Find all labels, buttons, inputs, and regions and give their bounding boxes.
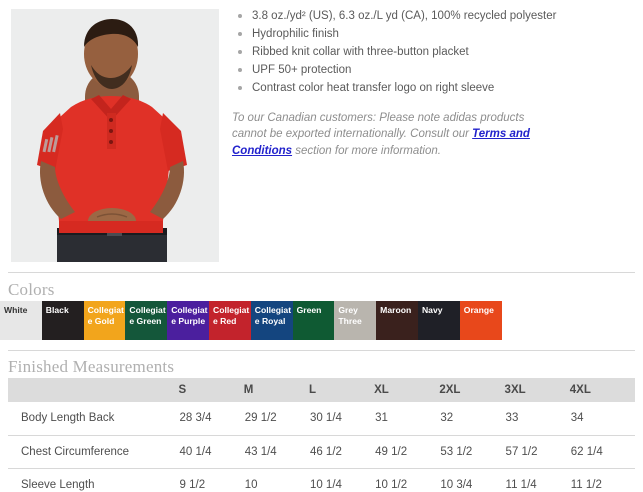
swatch-label: Collegiate Green bbox=[129, 305, 166, 326]
swatch-label: White bbox=[4, 305, 41, 316]
list-item: UPF 50+ protection bbox=[232, 62, 637, 79]
swatch-label: Collegiate Red bbox=[213, 305, 250, 326]
cell-s: 28 3/4 bbox=[179, 402, 244, 435]
table-header: S M L XL 2XL 3XL 4XL bbox=[8, 378, 635, 402]
color-swatch-navy[interactable]: Navy bbox=[418, 301, 460, 340]
cell-4xl: 11 1/2 bbox=[570, 468, 635, 492]
cell-2xl: 32 bbox=[439, 402, 504, 435]
cell-3xl: 33 bbox=[505, 402, 570, 435]
table-body: Body Length Back 28 3/4 29 1/2 30 1/4 31… bbox=[8, 402, 635, 492]
spec-text: 3.8 oz./yd² (US), 6.3 oz./L yd (CA), 100… bbox=[252, 10, 556, 22]
color-swatch-black[interactable]: Black bbox=[42, 301, 84, 340]
cell-3xl: 11 1/4 bbox=[505, 468, 570, 492]
cell-3xl: 57 1/2 bbox=[505, 435, 570, 468]
cell-2xl: 10 3/4 bbox=[439, 468, 504, 492]
color-swatch-collegiate-royal[interactable]: Collegiate Royal bbox=[251, 301, 293, 340]
cell-s: 40 1/4 bbox=[179, 435, 244, 468]
list-item: Contrast color heat transfer logo on rig… bbox=[232, 80, 637, 97]
cell-l: 30 1/4 bbox=[309, 402, 374, 435]
row-label: Chest Circumference bbox=[8, 435, 179, 468]
column-header-4xl: 4XL bbox=[570, 378, 635, 402]
color-swatch-collegiate-green[interactable]: Collegiate Green bbox=[125, 301, 167, 340]
measurements-heading: Finished Measurements bbox=[8, 357, 174, 377]
finished-measurements-table: S M L XL 2XL 3XL 4XL Body Length Back 28… bbox=[8, 378, 635, 492]
color-swatch-collegiate-red[interactable]: Collegiate Red bbox=[209, 301, 251, 340]
cell-xl: 10 1/2 bbox=[374, 468, 439, 492]
spec-bullet-list: 3.8 oz./yd² (US), 6.3 oz./L yd (CA), 100… bbox=[232, 8, 637, 97]
spec-text: Ribbed knit collar with three-button pla… bbox=[252, 46, 469, 58]
cell-4xl: 34 bbox=[570, 402, 635, 435]
color-swatch-white[interactable]: White bbox=[0, 301, 42, 340]
column-header-s: S bbox=[179, 378, 244, 402]
column-header-3xl: 3XL bbox=[505, 378, 570, 402]
cell-l: 46 1/2 bbox=[309, 435, 374, 468]
colors-section-divider bbox=[8, 272, 635, 273]
cell-m: 29 1/2 bbox=[244, 402, 309, 435]
product-image[interactable] bbox=[11, 9, 219, 262]
swatch-label: Navy bbox=[422, 305, 459, 316]
color-swatch-orange[interactable]: Orange bbox=[460, 301, 502, 340]
cell-m: 43 1/4 bbox=[244, 435, 309, 468]
cell-xl: 31 bbox=[374, 402, 439, 435]
row-label: Sleeve Length bbox=[8, 468, 179, 492]
table-header-row: S M L XL 2XL 3XL 4XL bbox=[8, 378, 635, 402]
color-swatch-grey-three[interactable]: Grey Three bbox=[334, 301, 376, 340]
cell-xl: 49 1/2 bbox=[374, 435, 439, 468]
list-item: Ribbed knit collar with three-button pla… bbox=[232, 44, 637, 61]
bullet-icon bbox=[238, 50, 242, 54]
cell-4xl: 62 1/4 bbox=[570, 435, 635, 468]
product-overview-section: 3.8 oz./yd² (US), 6.3 oz./L yd (CA), 100… bbox=[0, 0, 643, 272]
swatch-label: Black bbox=[46, 305, 83, 316]
column-header-2xl: 2XL bbox=[439, 378, 504, 402]
canadian-customers-note: To our Canadian customers: Please note a… bbox=[232, 110, 562, 160]
list-item: 3.8 oz./yd² (US), 6.3 oz./L yd (CA), 100… bbox=[232, 8, 637, 25]
spec-text: Contrast color heat transfer logo on rig… bbox=[252, 82, 494, 94]
cell-2xl: 53 1/2 bbox=[439, 435, 504, 468]
column-header-xl: XL bbox=[374, 378, 439, 402]
column-header-l: L bbox=[309, 378, 374, 402]
color-swatch-row: White Black Collegiate Gold Collegiate G… bbox=[0, 301, 643, 340]
swatch-label: Collegiate Purple bbox=[171, 305, 208, 326]
swatch-label: Grey Three bbox=[338, 305, 375, 326]
colors-heading: Colors bbox=[8, 280, 55, 300]
swatch-label: Collegiate Gold bbox=[88, 305, 125, 326]
measurements-section-divider bbox=[8, 350, 635, 351]
swatch-label: Maroon bbox=[380, 305, 417, 316]
bullet-icon bbox=[238, 86, 242, 90]
spec-text: Hydrophilic finish bbox=[252, 28, 339, 40]
product-detail-page: 3.8 oz./yd² (US), 6.3 oz./L yd (CA), 100… bbox=[0, 0, 643, 492]
spec-text: UPF 50+ protection bbox=[252, 64, 351, 76]
bullet-icon bbox=[238, 68, 242, 72]
cell-l: 10 1/4 bbox=[309, 468, 374, 492]
bullet-icon bbox=[238, 32, 242, 36]
row-label: Body Length Back bbox=[8, 402, 179, 435]
table-row: Sleeve Length 9 1/2 10 10 1/4 10 1/2 10 … bbox=[8, 468, 635, 492]
swatch-label: Collegiate Royal bbox=[255, 305, 292, 326]
table-row: Chest Circumference 40 1/4 43 1/4 46 1/2… bbox=[8, 435, 635, 468]
cell-m: 10 bbox=[244, 468, 309, 492]
cell-s: 9 1/2 bbox=[179, 468, 244, 492]
color-swatch-green[interactable]: Green bbox=[293, 301, 335, 340]
color-swatch-collegiate-gold[interactable]: Collegiate Gold bbox=[84, 301, 126, 340]
color-swatch-collegiate-purple[interactable]: Collegiate Purple bbox=[167, 301, 209, 340]
column-header-m: M bbox=[244, 378, 309, 402]
table-row: Body Length Back 28 3/4 29 1/2 30 1/4 31… bbox=[8, 402, 635, 435]
swatch-label: Orange bbox=[464, 305, 501, 316]
bullet-icon bbox=[238, 14, 242, 18]
column-header-blank bbox=[8, 378, 179, 402]
color-swatch-maroon[interactable]: Maroon bbox=[376, 301, 418, 340]
list-item: Hydrophilic finish bbox=[232, 26, 637, 43]
product-spec-panel: 3.8 oz./yd² (US), 6.3 oz./L yd (CA), 100… bbox=[232, 8, 637, 171]
swatch-label: Green bbox=[297, 305, 334, 316]
product-photo-illustration bbox=[11, 9, 219, 262]
note-text-after: section for more information. bbox=[292, 145, 441, 157]
